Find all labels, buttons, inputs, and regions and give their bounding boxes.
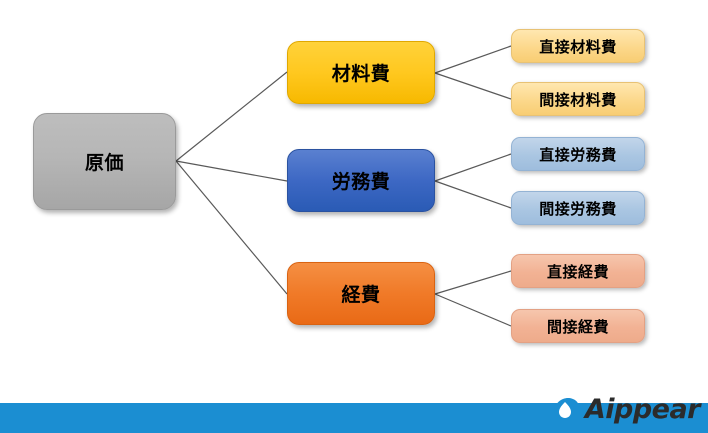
node-direct-labor-cost[interactable]: 直接労務費 <box>511 137 645 171</box>
node-material-cost[interactable]: 材料費 <box>287 41 435 104</box>
brand-logo-text: Aippear <box>585 396 700 423</box>
connector-expense-indirect <box>435 294 511 326</box>
node-direct-expense[interactable]: 直接経費 <box>511 254 645 288</box>
connector-labor-indirect <box>435 181 511 208</box>
connector-expense-direct <box>435 271 511 294</box>
node-indirect-labor-cost[interactable]: 間接労務費 <box>511 191 645 225</box>
node-root-cost[interactable]: 原価 <box>33 113 176 210</box>
diagram-canvas: 原価 材料費 労務費 経費 直接材料費 間接材料費 直接労務費 間接労務費 直接… <box>0 0 708 433</box>
brand-logo: Aippear <box>549 392 700 426</box>
node-indirect-expense[interactable]: 間接経費 <box>511 309 645 343</box>
connector-labor-direct <box>435 154 511 181</box>
cloud-swoosh-icon <box>549 394 583 424</box>
node-indirect-material-cost[interactable]: 間接材料費 <box>511 82 645 116</box>
node-direct-material-cost[interactable]: 直接材料費 <box>511 29 645 63</box>
connector-material-indirect <box>435 73 511 99</box>
connector-root-material <box>176 72 287 161</box>
node-labor-cost[interactable]: 労務費 <box>287 149 435 212</box>
connector-material-direct <box>435 46 511 73</box>
node-expense-cost[interactable]: 経費 <box>287 262 435 325</box>
connector-root-labor <box>176 161 287 181</box>
connector-root-expense <box>176 161 287 294</box>
